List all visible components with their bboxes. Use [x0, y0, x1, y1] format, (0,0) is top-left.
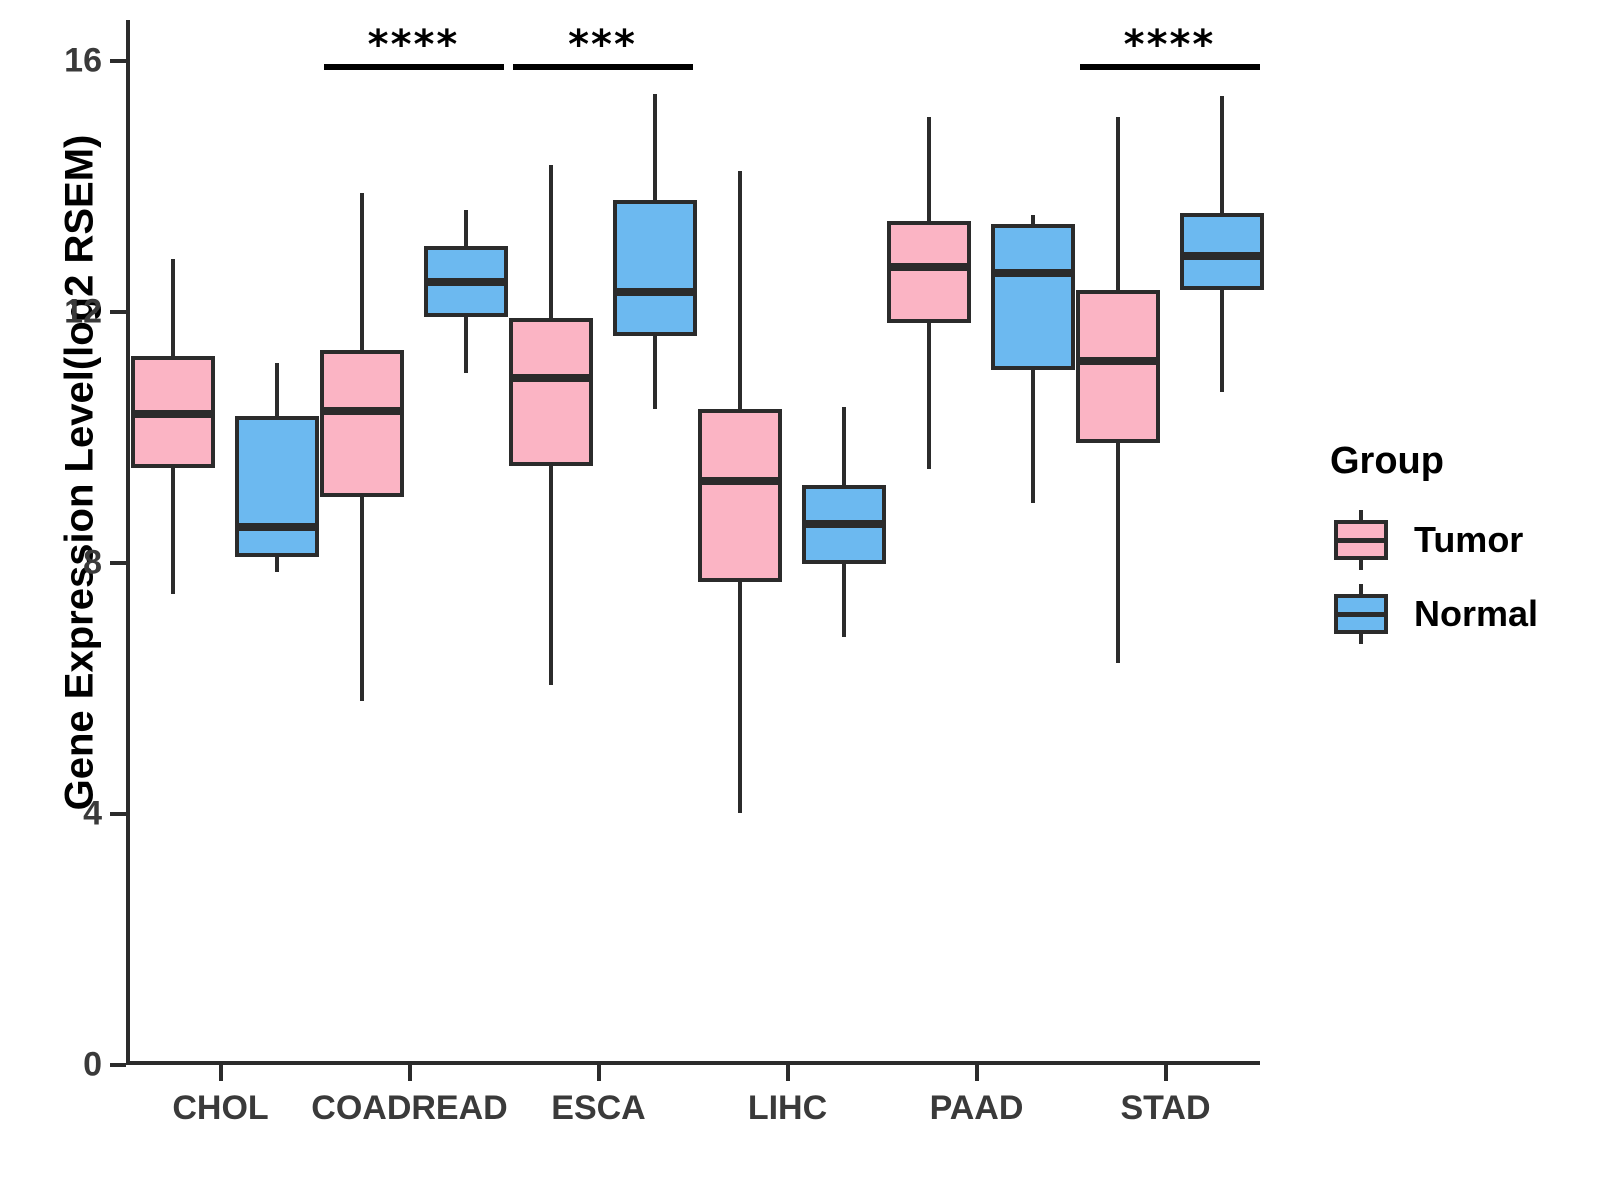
whisker-lower: [927, 323, 931, 469]
legend-item-tumor[interactable]: Tumor: [1330, 509, 1590, 571]
y-tick-mark: [110, 310, 126, 314]
whisker-upper: [1116, 117, 1120, 290]
x-tick-label-esca: ESCA: [551, 1089, 645, 1128]
median-line: [131, 410, 215, 418]
whisker-upper: [653, 94, 657, 201]
x-tick-mark: [219, 1065, 223, 1081]
y-tick-label: 16: [30, 42, 102, 81]
median-line: [235, 523, 319, 531]
whisker-upper: [171, 259, 175, 356]
legend-label-tumor: Tumor: [1414, 519, 1523, 561]
significance-label-esca: ***: [568, 22, 637, 68]
y-tick-mark: [110, 59, 126, 63]
x-tick-label-paad: PAAD: [930, 1089, 1024, 1128]
whisker-upper: [464, 210, 468, 246]
median-line: [509, 374, 593, 382]
whisker-lower: [360, 497, 364, 701]
y-tick-label: 0: [30, 1046, 102, 1085]
legend-title: Group: [1330, 440, 1590, 483]
whisker-lower: [1031, 370, 1035, 504]
box-rect: [235, 416, 319, 557]
box-rect: [698, 409, 782, 582]
y-tick-label: 4: [30, 795, 102, 834]
x-tick-label-lihc: LIHC: [748, 1089, 827, 1128]
box-rect: [887, 221, 971, 323]
whisker-lower: [275, 557, 279, 573]
median-line: [887, 263, 971, 271]
box-rect: [509, 318, 593, 465]
whisker-upper: [842, 407, 846, 484]
median-line: [802, 520, 886, 528]
x-tick-label-coadread: COADREAD: [311, 1089, 507, 1128]
whisker-lower: [1116, 443, 1120, 664]
whisker-upper: [275, 363, 279, 415]
significance-label-stad: ****: [1124, 22, 1216, 68]
legend-item-normal[interactable]: Normal: [1330, 583, 1590, 645]
x-tick-mark: [975, 1065, 979, 1081]
whisker-lower: [653, 336, 657, 409]
whisker-lower: [549, 466, 553, 686]
y-tick-label: 12: [30, 293, 102, 332]
x-tick-label-chol: CHOL: [172, 1089, 268, 1128]
median-line: [698, 477, 782, 485]
plot-panel: ***********: [126, 20, 1260, 1065]
median-line: [613, 288, 697, 296]
whisker-upper: [1220, 96, 1224, 213]
legend-label-normal: Normal: [1414, 593, 1538, 635]
y-tick-mark: [110, 812, 126, 816]
x-tick-mark: [408, 1065, 412, 1081]
median-line: [991, 269, 1075, 277]
x-tick-label-stad: STAD: [1120, 1089, 1210, 1128]
legend-swatch-normal-icon: [1330, 588, 1392, 640]
whisker-lower: [464, 317, 468, 373]
legend-items: TumorNormal: [1330, 509, 1590, 645]
box-rect: [320, 350, 404, 497]
whisker-upper: [549, 165, 553, 319]
legend: Group TumorNormal: [1330, 440, 1590, 657]
y-tick-mark: [110, 1063, 126, 1067]
box-rect: [1076, 290, 1160, 442]
whisker-lower: [171, 468, 175, 595]
significance-label-coadread: ****: [368, 22, 460, 68]
x-tick-mark: [597, 1065, 601, 1081]
median-line: [424, 278, 508, 286]
median-line: [1076, 357, 1160, 365]
whisker-lower: [842, 564, 846, 637]
whisker-lower: [738, 582, 742, 813]
median-line: [1180, 252, 1264, 260]
whisker-upper: [927, 117, 931, 221]
x-tick-mark: [786, 1065, 790, 1081]
x-tick-mark: [1164, 1065, 1168, 1081]
legend-swatch-tumor-icon: [1330, 514, 1392, 566]
whisker-lower: [1220, 290, 1224, 392]
whisker-upper: [738, 171, 742, 409]
median-line: [320, 407, 404, 415]
y-tick-mark: [110, 561, 126, 565]
whisker-upper: [360, 193, 364, 350]
box-rect: [613, 200, 697, 336]
box-rect: [991, 224, 1075, 370]
y-tick-label: 8: [30, 544, 102, 583]
y-axis-title: Gene Expression Level(log2 RSEM): [58, 23, 103, 923]
whisker-upper: [1031, 215, 1035, 224]
